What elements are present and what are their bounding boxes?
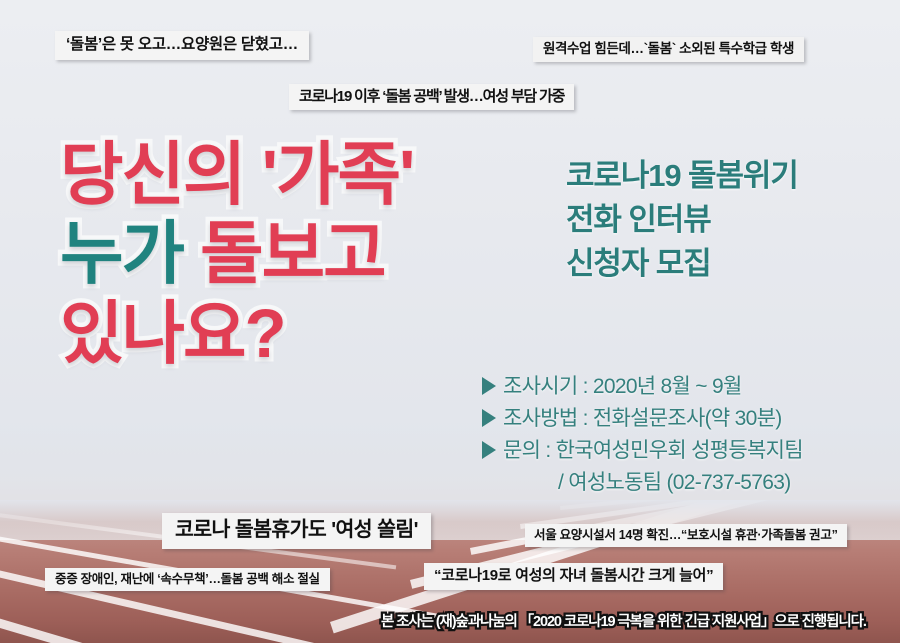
- news-clipping-top-left: ‘돌봄’은 못 오고…요양원은 닫혔고…: [55, 31, 309, 60]
- lane-line: [0, 630, 677, 643]
- subheading-line-2: 전화 인터뷰: [566, 198, 798, 242]
- subheading-line-3: 신청자 모집: [566, 242, 798, 286]
- headline-line-2-red: 돌보고: [200, 215, 384, 292]
- subheading-block: 코로나19 돌봄위기 전화 인터뷰 신청자 모집: [566, 154, 798, 286]
- news-clipping-top-right: 원격수업 힘든데…`돌봄` 소외된 특수학급 학생: [533, 37, 804, 62]
- news-clipping-bottom-left: 중증 장애인, 재난에 ‘속수무책’…돌봄 공백 해소 절실: [45, 568, 330, 591]
- headline-line-1: 당신의 '가족': [60, 136, 413, 213]
- survey-details-list: 조사시기 : 2020년 8월 ~ 9월 조사방법 : 전화설문조사(약 30분…: [482, 371, 803, 499]
- news-clipping-top-center: 코로나19 이후 ‘돌봄 공백’ 발생…여성 부담 가중: [289, 84, 574, 110]
- detail-text-period: 조사시기 : 2020년 8월 ~ 9월: [503, 375, 742, 398]
- detail-row-method: 조사방법 : 전화설문조사(약 30분): [482, 403, 803, 435]
- headline-line-2-teal: 누가: [60, 215, 183, 292]
- detail-text-method: 조사방법 : 전화설문조사(약 30분): [503, 407, 782, 430]
- poster-canvas: ‘돌봄’은 못 오고…요양원은 닫혔고… 원격수업 힘든데…`돌봄` 소외된 특…: [0, 0, 900, 643]
- detail-row-contact-continued: / 여성노동팀 (02-737-5763): [482, 467, 803, 499]
- footer-funding-note: 본 조사는 (재)숲과나눔의 「2020 코로나19 극복을 위한 긴급 지원사…: [381, 610, 866, 631]
- triangle-bullet-icon: [482, 441, 496, 459]
- detail-row-period: 조사시기 : 2020년 8월 ~ 9월: [482, 371, 803, 403]
- triangle-bullet-icon: [482, 377, 496, 395]
- subheading-line-1: 코로나19 돌봄위기: [566, 154, 798, 198]
- triangle-bullet-icon: [482, 409, 496, 427]
- headline-line-2: 누가 돌보고: [60, 215, 413, 292]
- news-clipping-bottom-quote: “코로나19로 여성의 자녀 돌봄시간 크게 늘어”: [424, 563, 723, 590]
- detail-row-contact: 문의 : 한국여성민우회 성평등복지팀: [482, 435, 803, 467]
- detail-text-contact: 문의 : 한국여성민우회 성평등복지팀: [503, 439, 803, 462]
- headline-line-3: 있나요?: [60, 295, 413, 372]
- news-clipping-bottom-main: 코로나 돌봄휴가도 '여성 쏠림': [162, 513, 431, 549]
- news-clipping-bottom-right: 서울 요양시설서 14명 확진…“보호시설 휴관·가족돌봄 권고”: [525, 524, 847, 547]
- main-headline: 당신의 '가족' 누가 돌보고 있나요?: [60, 136, 413, 372]
